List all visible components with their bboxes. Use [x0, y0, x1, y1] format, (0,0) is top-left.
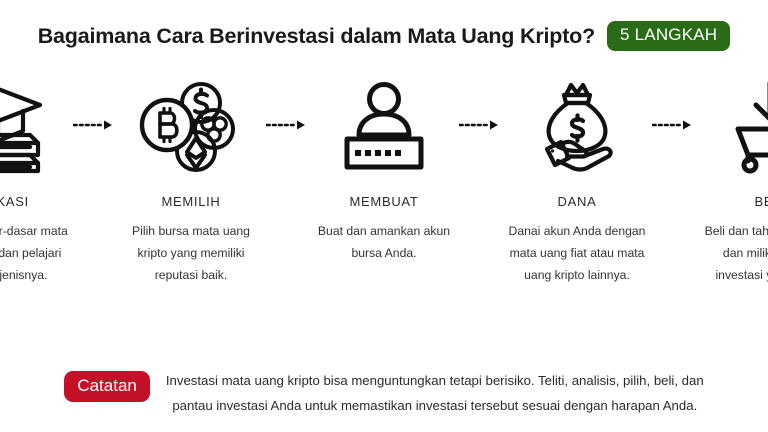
- step-label: MEMILIH: [161, 194, 220, 209]
- user-account-password-icon: [332, 72, 436, 178]
- step-beli: BELI Beli dan tahan atau jual, dan milik…: [698, 72, 768, 287]
- step-description: Pilih bursa mata uang kripto yang memili…: [121, 220, 261, 287]
- step-membuat: MEMBUAT Buat dan amankan akun bursa Anda…: [312, 72, 457, 264]
- shopping-cart-download-icon: [718, 72, 768, 178]
- page-title: Bagaimana Cara Berinvestasi dalam Mata U…: [38, 24, 595, 49]
- step-label: EDUKASI: [0, 194, 29, 209]
- graduation-cap-books-icon: [0, 72, 50, 178]
- note-line-2: pantau investasi Anda untuk memastikan i…: [166, 394, 704, 418]
- step-label: MEMBUAT: [350, 194, 419, 209]
- step-memilih: MEMILIH Pilih bursa mata uang kripto yan…: [119, 72, 264, 287]
- dotted-arrow-right-icon: [264, 72, 312, 178]
- header: Bagaimana Cara Berinvestasi dalam Mata U…: [0, 0, 768, 72]
- footer-note: Catatan Investasi mata uang kripto bisa …: [0, 369, 768, 418]
- steps-row: EDUKASI Pelajari dasar-dasar mata uang k…: [0, 72, 768, 287]
- step-description: Danai akun Anda dengan mata uang fiat at…: [507, 220, 647, 287]
- note-badge: Catatan: [64, 371, 150, 402]
- step-edukasi: EDUKASI Pelajari dasar-dasar mata uang k…: [0, 72, 71, 287]
- step-dana: DANA Danai akun Anda dengan mata uang fi…: [505, 72, 650, 287]
- note-text: Investasi mata uang kripto bisa menguntu…: [166, 369, 704, 418]
- dotted-arrow-right-icon: [457, 72, 505, 178]
- hand-money-bag-icon: [525, 72, 629, 178]
- steps-count-badge: 5 LANGKAH: [607, 21, 730, 51]
- note-line-1: Investasi mata uang kripto bisa menguntu…: [166, 369, 704, 393]
- crypto-coins-icon: [139, 72, 243, 178]
- step-description: Pelajari dasar-dasar mata uang kripto da…: [0, 220, 68, 287]
- step-label: BELI: [755, 194, 768, 209]
- step-label: DANA: [558, 194, 597, 209]
- step-description: Beli dan tahan atau jual, dan miliki str…: [700, 220, 768, 287]
- dotted-arrow-right-icon: [650, 72, 698, 178]
- step-description: Buat dan amankan akun bursa Anda.: [314, 220, 454, 264]
- dotted-arrow-right-icon: [71, 72, 119, 178]
